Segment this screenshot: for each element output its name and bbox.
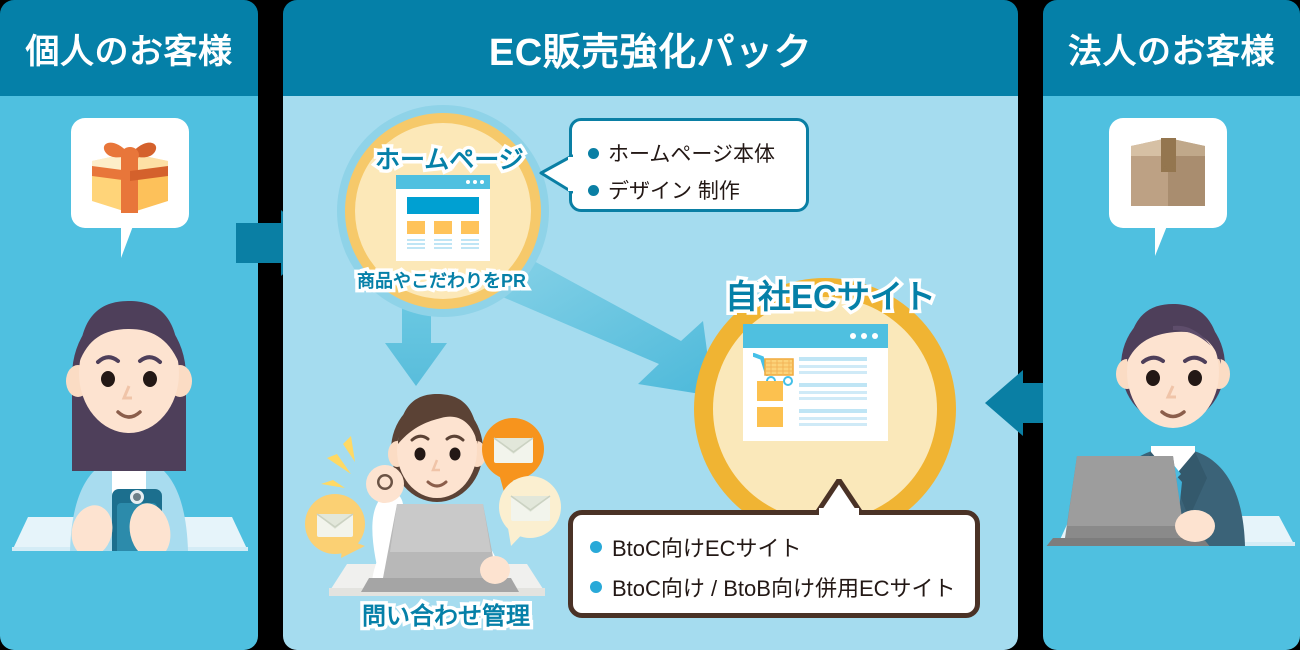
mail-bubble-yellow (303, 494, 367, 566)
browser-card (434, 221, 452, 234)
text-line (799, 423, 867, 426)
browser-dots (850, 333, 878, 339)
parcel-speech-bubble (1109, 118, 1227, 228)
panel-left-body (0, 96, 258, 650)
homepage-browser-icon (396, 175, 490, 261)
ecsite-callout: BtoC向けECサイト BtoC向け / BtoB向け併用ECサイト (568, 510, 980, 618)
panel-center-title: EC販売強化パック (489, 21, 812, 76)
text-line (799, 417, 867, 420)
text-line (799, 409, 867, 413)
callout-item: デザイン 制作 (588, 175, 806, 205)
callout-item: BtoC向け / BtoB向け併用ECサイト (590, 571, 975, 603)
browser-text-line (434, 247, 452, 249)
product-thumbnail (757, 407, 783, 427)
text-line (799, 391, 867, 394)
browser-text-line (461, 243, 479, 245)
homepage-callout: ホームページ本体 デザイン 制作 (569, 118, 809, 212)
bullet-dot-icon (588, 185, 599, 196)
infographic-canvas: 個人のお客様 (0, 0, 1300, 650)
gift-box-icon (84, 133, 176, 217)
businessman-with-laptop-icon (1043, 226, 1300, 546)
panel-center-header: EC販売強化パック (283, 0, 1018, 96)
browser-text-line (461, 239, 479, 241)
text-line (799, 365, 867, 368)
ecsite-callout-list: BtoC向けECサイト BtoC向け / BtoB向け併用ECサイト (573, 515, 975, 603)
support-label: 問い合わせ管理 (362, 596, 530, 631)
ecsite-browser-icon (743, 324, 888, 441)
panel-left-title: 個人のお客様 (26, 24, 233, 73)
homepage-callout-tail (539, 151, 573, 195)
browser-text-line (434, 239, 452, 241)
browser-dots (466, 180, 484, 184)
product-thumbnail (757, 381, 783, 401)
callout-item: ホームページ本体 (588, 138, 806, 168)
browser-text-line (407, 239, 425, 241)
browser-hero-block (407, 197, 479, 214)
browser-text-line (461, 247, 479, 249)
text-line (799, 371, 867, 374)
panel-ec-package: EC販売強化パック (283, 0, 1018, 650)
bullet-dot-icon (590, 541, 602, 553)
callout-item-label: BtoC向けECサイト (612, 531, 801, 563)
panel-corporate-customer: 法人のお客様 (1043, 0, 1300, 650)
cardboard-parcel-icon (1125, 132, 1211, 212)
woman-with-smartphone-icon (0, 231, 258, 551)
browser-text-line (434, 243, 452, 245)
gift-speech-bubble (71, 118, 189, 228)
homepage-circle-caption: 商品やこだわりをPR (357, 267, 526, 293)
browser-card (407, 221, 425, 234)
panel-right-body (1043, 96, 1300, 650)
text-line (799, 383, 867, 387)
homepage-circle-label: ホームページ (375, 140, 524, 176)
panel-center-body: ホームページ 商品やこだわりをPR ホームページ本体 デザイン 制作 (283, 96, 1018, 650)
panel-right-header: 法人のお客様 (1043, 0, 1300, 96)
callout-item-label: BtoC向け / BtoB向け併用ECサイト (612, 571, 956, 603)
panel-individual-customer: 個人のお客様 (0, 0, 258, 650)
mail-bubble-cream (497, 476, 563, 550)
browser-text-line (407, 243, 425, 245)
ecsite-circle-label: 自社ECサイト (725, 270, 936, 318)
panel-right-title: 法人のお客様 (1068, 24, 1275, 73)
bullet-dot-icon (588, 148, 599, 159)
callout-item: BtoC向けECサイト (590, 531, 975, 563)
browser-card (461, 221, 479, 234)
callout-item-label: ホームページ本体 (608, 138, 775, 168)
text-line (799, 357, 867, 361)
text-line (799, 397, 867, 400)
panel-left-header: 個人のお客様 (0, 0, 258, 96)
ecsite-callout-tail (813, 479, 865, 515)
callout-item-label: デザイン 制作 (608, 175, 740, 205)
homepage-callout-list: ホームページ本体 デザイン 制作 (572, 121, 806, 205)
browser-text-line (407, 247, 425, 249)
bullet-dot-icon (590, 581, 602, 593)
arrow-right-icon (236, 223, 284, 263)
